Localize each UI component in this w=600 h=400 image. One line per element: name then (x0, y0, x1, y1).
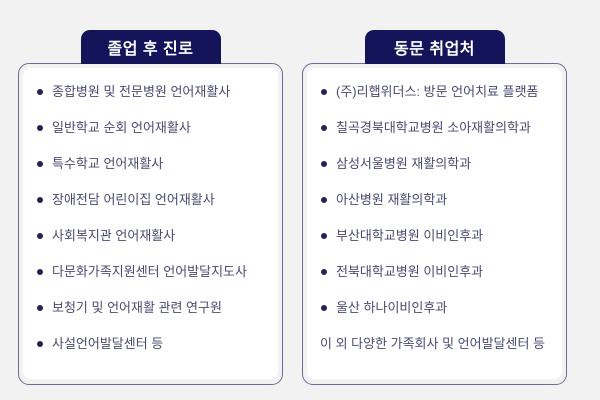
card-title-alumni-employers: 동문 취업처 (365, 30, 505, 64)
list-item: 부산대학교병원 이비인후과 (320, 228, 552, 244)
card-alumni-employers: 동문 취업처 (주)리햅위더스: 방문 언어치료 플랫폼 칠곡경북대학교병원 소… (302, 30, 567, 385)
list-item: 사회복지관 언어재활사 (36, 228, 268, 244)
list-item: 일반학교 순회 언어재활사 (36, 120, 268, 136)
list-item-label: 보청기 및 언어재활 관련 연구원 (52, 300, 222, 315)
bullet-icon (37, 197, 43, 203)
bullet-icon (321, 89, 327, 95)
list-item: 울산 하나이비인후과 (320, 300, 552, 316)
list-item-label: 종합병원 및 전문병원 언어재활사 (52, 84, 230, 99)
list-item: 다문화가족지원센터 언어발달지도사 (36, 264, 268, 280)
list-item: 보청기 및 언어재활 관련 연구원 (36, 300, 268, 316)
list-item: 삼성서울병원 재활의학과 (320, 156, 552, 172)
bullet-icon (37, 161, 43, 167)
list-item-label: 아산병원 재활의학과 (336, 192, 447, 207)
list-item: 사설언어발달센터 등 (36, 336, 268, 352)
list-item: 칠곡경북대학교병원 소아재활의학과 (320, 120, 552, 136)
bullet-icon (37, 233, 43, 239)
list-item-label: 장애전담 어린이집 언어재활사 (52, 192, 215, 207)
list-career-paths: 종합병원 및 전문병원 언어재활사 일반학교 순회 언어재활사 특수학교 언어재… (36, 84, 268, 352)
list-item-label: 사회복지관 언어재활사 (52, 228, 175, 243)
list-item-label: 삼성서울병원 재활의학과 (336, 156, 471, 171)
bullet-icon (37, 341, 43, 347)
card-career-paths: 졸업 후 진로 종합병원 및 전문병원 언어재활사 일반학교 순회 언어재활사 … (18, 30, 283, 385)
card-body-alumni-employers: (주)리햅위더스: 방문 언어치료 플랫폼 칠곡경북대학교병원 소아재활의학과 … (307, 68, 562, 379)
card-title-career-paths: 졸업 후 진로 (81, 30, 221, 64)
list-item: 아산병원 재활의학과 (320, 192, 552, 208)
bullet-icon (37, 125, 43, 131)
bullet-icon (321, 197, 327, 203)
list-item: (주)리햅위더스: 방문 언어치료 플랫폼 (320, 84, 552, 100)
list-item-label: 칠곡경북대학교병원 소아재활의학과 (336, 120, 531, 135)
list-item-label: 사설언어발달센터 등 (52, 336, 163, 351)
list-item: 장애전담 어린이집 언어재활사 (36, 192, 268, 208)
bullet-icon (321, 125, 327, 131)
list-item-label: 이 외 다양한 가족회사 및 언어발달센터 등 (320, 336, 545, 351)
list-item: 종합병원 및 전문병원 언어재활사 (36, 84, 268, 100)
list-item-label: 울산 하나이비인후과 (336, 300, 447, 315)
bullet-icon (37, 305, 43, 311)
list-item: 특수학교 언어재활사 (36, 156, 268, 172)
bullet-icon (37, 89, 43, 95)
bullet-icon (321, 305, 327, 311)
card-body-career-paths: 종합병원 및 전문병원 언어재활사 일반학교 순회 언어재활사 특수학교 언어재… (23, 68, 278, 379)
list-alumni-employers: (주)리햅위더스: 방문 언어치료 플랫폼 칠곡경북대학교병원 소아재활의학과 … (320, 84, 552, 352)
list-item-label: 특수학교 언어재활사 (52, 156, 163, 171)
list-item-label: 다문화가족지원센터 언어발달지도사 (52, 264, 247, 279)
list-item: 전북대학교병원 이비인후과 (320, 264, 552, 280)
list-item-label: (주)리햅위더스: 방문 언어치료 플랫폼 (336, 84, 539, 99)
list-item-label: 전북대학교병원 이비인후과 (336, 264, 483, 279)
list-item-note: 이 외 다양한 가족회사 및 언어발달센터 등 (320, 336, 552, 352)
list-item-label: 일반학교 순회 언어재활사 (52, 120, 191, 135)
bullet-icon (321, 161, 327, 167)
bullet-icon (37, 269, 43, 275)
infographic-board: 졸업 후 진로 종합병원 및 전문병원 언어재활사 일반학교 순회 언어재활사 … (0, 0, 600, 400)
list-item-label: 부산대학교병원 이비인후과 (336, 228, 483, 243)
bullet-icon (321, 269, 327, 275)
bullet-icon (321, 233, 327, 239)
